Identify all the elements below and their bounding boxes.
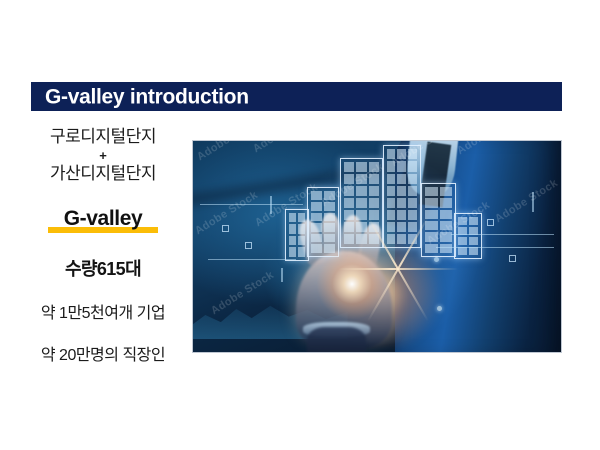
plus-symbol: + [14, 148, 192, 163]
stat-workers: 약 20만명의 직장인 [14, 341, 192, 365]
slide-canvas: G-valley introduction 구로디지털단지 + 가산디지털단지 … [0, 0, 600, 450]
brand-highlight: G-valley [60, 207, 147, 233]
stat-companies: 약 1만5천여개 기업 [14, 299, 192, 323]
brand-label: G-valley [60, 207, 147, 233]
wrist [307, 327, 366, 352]
content-photo: Adobe Stock Adobe Stock Adobe Stock Adob… [192, 140, 562, 353]
hologram-light-burst [315, 247, 389, 321]
slide-title-bar: G-valley introduction [31, 82, 562, 111]
quantity-label: 수량615대 [14, 255, 192, 281]
district-line-2: 가산디지털단지 [14, 163, 192, 185]
photo-inner: Adobe Stock Adobe Stock Adobe Stock Adob… [193, 141, 561, 352]
district-line-1: 구로디지털단지 [14, 126, 192, 148]
page-title: G-valley introduction [45, 86, 249, 107]
left-text-column: 구로디지털단지 + 가산디지털단지 G-valley 수량615대 약 1만5천… [14, 126, 192, 365]
